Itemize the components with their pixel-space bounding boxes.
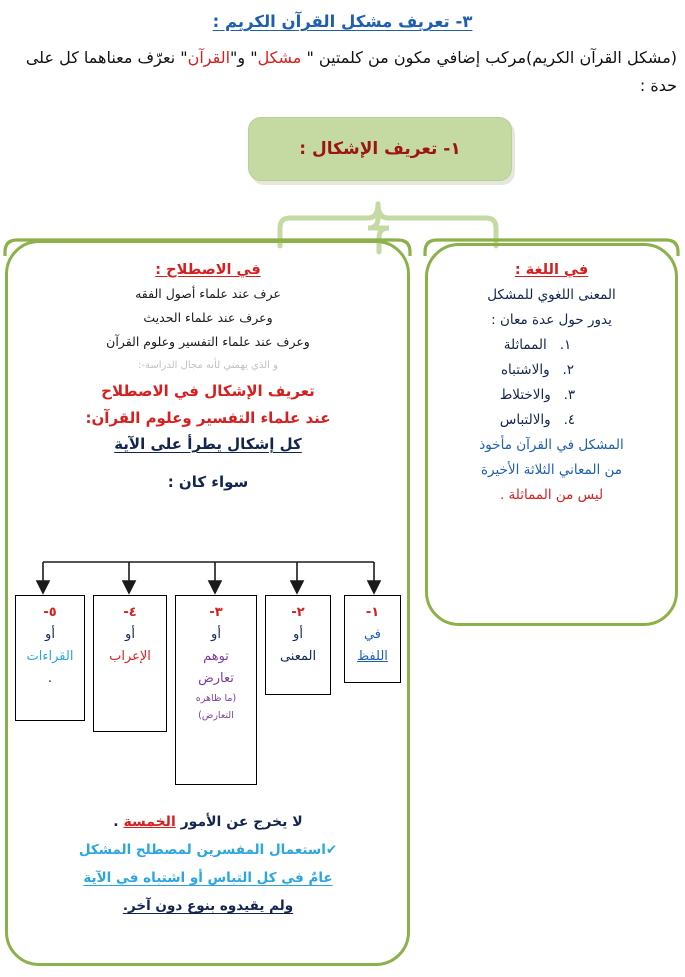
istilah-heading: في الاصطلاح :	[12, 258, 404, 282]
lughah-item-2-num: ٢.	[562, 362, 574, 378]
branch-box-4-number: ٤-	[94, 602, 166, 624]
footer-line-1-post: .	[113, 814, 123, 830]
page-title: ٣- تعريف مشكل القرآن الكريم :	[0, 12, 685, 31]
branch-box-2-number: ٢-	[266, 602, 330, 624]
branch-box-4-irab[interactable]: ٤- أو الإعراب	[93, 595, 167, 732]
istilah-gray-note: و الذي يهمني لأنه مجال الدراسة-:	[12, 354, 404, 378]
branch-box-3-line-4: (ما ظاهره	[176, 690, 256, 707]
lughah-item-3: ٣. والاختلاط	[429, 383, 674, 408]
intro-text-part1: (مشكل القرآن الكريم)مركب إضافي مكون من ك…	[301, 48, 677, 67]
lughah-item-1-text: المماثلة	[504, 337, 547, 353]
branch-box-5-line-2: القراءات	[16, 646, 84, 668]
lughah-item-4: ٤. والالتباس	[429, 408, 674, 433]
lughah-item-1: ١. المماثلة	[429, 333, 674, 358]
branch-box-3-number: ٣-	[176, 602, 256, 624]
lughah-item-4-num: ٤.	[564, 412, 576, 428]
intro-text-part2: " و"	[230, 48, 258, 67]
branch-box-3-line-3: تعارض	[176, 668, 256, 690]
lughah-item-4-text: والالتباس	[500, 412, 551, 428]
footer-line-1-pre: لا يخرج عن الأمور	[176, 814, 303, 830]
footer-line-2: ✔استعمال المفسرين لمصطلح المشكل	[12, 836, 404, 864]
istilah-red-line-1: تعريف الإشكال في الاصطلاح	[12, 378, 404, 405]
branch-box-2-line-2: المعنى	[266, 646, 330, 668]
branch-box-3-tawahhum-taarud[interactable]: ٣- أو توهم تعارض (ما ظاهره التعارض)	[175, 595, 257, 785]
branch-box-5-line-1: أو	[16, 624, 84, 646]
branch-box-1-number: ١-	[345, 602, 400, 624]
footer-line-4: ولم يقيدوه بنوع دون آخر.	[12, 892, 404, 920]
istilah-line-3: وعرف عند علماء التفسير وعلوم القرآن	[12, 330, 404, 354]
branch-box-3-line-2: توهم	[176, 646, 256, 668]
lughah-line-1: المعنى اللغوي للمشكل	[429, 283, 674, 308]
branch-box-4-line-1: أو	[94, 624, 166, 646]
branch-box-5-number: ٥-	[16, 602, 84, 624]
branch-box-2-line-1: أو	[266, 624, 330, 646]
istilah-line-2: وعرف عند علماء الحديث	[12, 306, 404, 330]
istilah-content: في الاصطلاح : عرف عند علماء أصول الفقه و…	[12, 258, 404, 494]
branch-box-1-line-2: اللفظ	[345, 646, 400, 668]
branch-box-3-line-1: أو	[176, 624, 256, 646]
branch-box-5-line-3: .	[16, 668, 84, 690]
lughah-item-2-text: والاشتباه	[501, 362, 550, 378]
lughah-item-3-text: والاختلاط	[500, 387, 551, 403]
center-header-label: ١- تعريف الإشكال :	[299, 139, 460, 159]
istilah-line-1: عرف عند علماء أصول الفقه	[12, 282, 404, 306]
lughah-conclusion-3: ليس من المماثلة .	[429, 483, 674, 508]
lughah-item-1-num: ١.	[560, 337, 572, 353]
footer-line-1: لا يخرج عن الأمور الخمسة .	[12, 808, 404, 836]
branch-box-3-line-5: التعارض)	[176, 707, 256, 724]
lughah-content: في اللغة : المعنى اللغوي للمشكل يدور حول…	[429, 258, 674, 508]
footer-notes: لا يخرج عن الأمور الخمسة . ✔استعمال المف…	[12, 808, 404, 920]
center-header-box[interactable]: ١- تعريف الإشكال :	[248, 117, 512, 181]
footer-line-3: عامٌ في كل التباس أو اشتباه في الآية	[12, 864, 404, 892]
lughah-item-2: ٢. والاشتباه	[429, 358, 674, 383]
branch-box-5-qiraat[interactable]: ٥- أو القراءات .	[15, 595, 85, 721]
intro-keyword-quran: القرآن	[188, 48, 230, 67]
intro-paragraph: (مشكل القرآن الكريم)مركب إضافي مكون من ك…	[8, 44, 677, 100]
istilah-definition: كل إشكال يطرأ على الآية	[12, 432, 404, 456]
lughah-item-3-num: ٣.	[564, 387, 576, 403]
intro-keyword-mushkil: مشكل	[258, 48, 302, 67]
lughah-line-2: يدور حول عدة معان :	[429, 308, 674, 333]
branch-box-4-line-2: الإعراب	[94, 646, 166, 668]
lughah-conclusion-2: من المعاني الثلاثة الأخيرة	[429, 458, 674, 483]
lughah-conclusion-1: المشكل في القرآن مأخوذ	[429, 433, 674, 458]
istilah-red-line-2: عند علماء التفسير وعلوم القرآن:	[12, 405, 404, 432]
branch-box-1-lafz[interactable]: ١- في اللفظ	[344, 595, 401, 683]
branch-box-1-line-1: في	[345, 624, 400, 646]
branch-box-2-mana[interactable]: ٢- أو المعنى	[265, 595, 331, 695]
footer-line-1-underlined: الخمسة	[123, 814, 175, 830]
lughah-heading: في اللغة :	[429, 258, 674, 283]
istilah-sawaa-label: سواء كان :	[12, 470, 404, 494]
